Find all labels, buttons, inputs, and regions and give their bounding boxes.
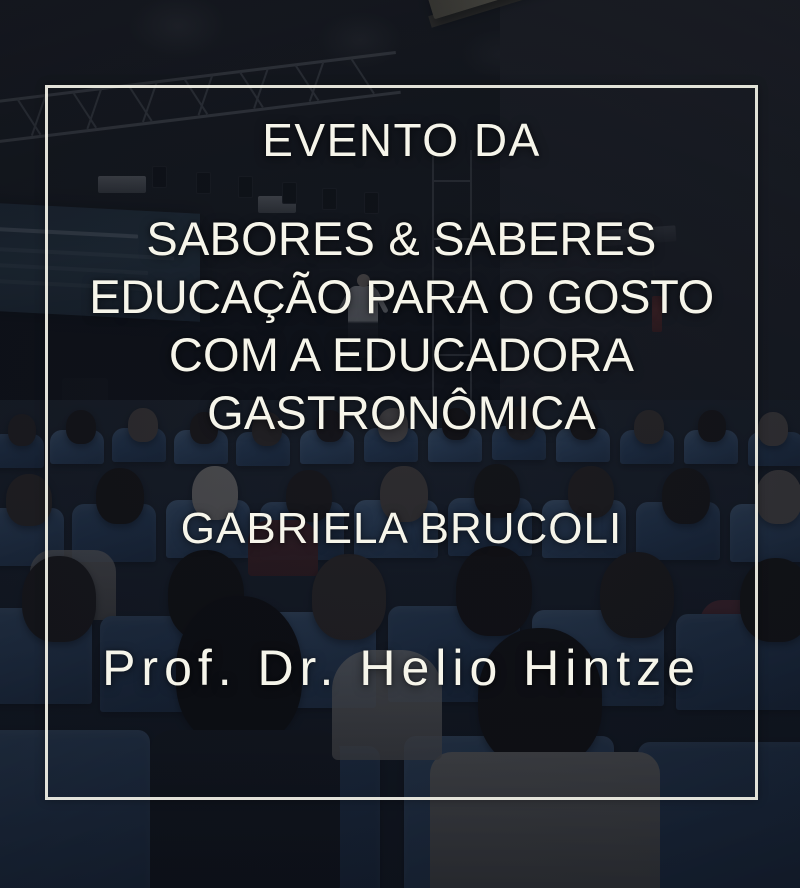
presenter-name: GABRIELA BRUCOLI [45,502,758,556]
title-line-1: SABORES & SABERES [89,210,714,268]
host-name: Prof. Dr. Helio Hintze [45,638,758,698]
poster-text-content: EVENTO DA SABORES & SABERES EDUCAÇÃO PAR… [45,85,758,800]
title-line-4: GASTRONÔMICA [89,384,714,442]
event-poster: EVENTO DA SABORES & SABERES EDUCAÇÃO PAR… [0,0,800,888]
poster-kicker: EVENTO DA [45,112,758,168]
title-line-3: COM A EDUCADORA [89,326,714,384]
poster-main-title: SABORES & SABERES EDUCAÇÃO PARA O GOSTO … [89,210,714,442]
title-line-2: EDUCAÇÃO PARA O GOSTO [89,268,714,326]
